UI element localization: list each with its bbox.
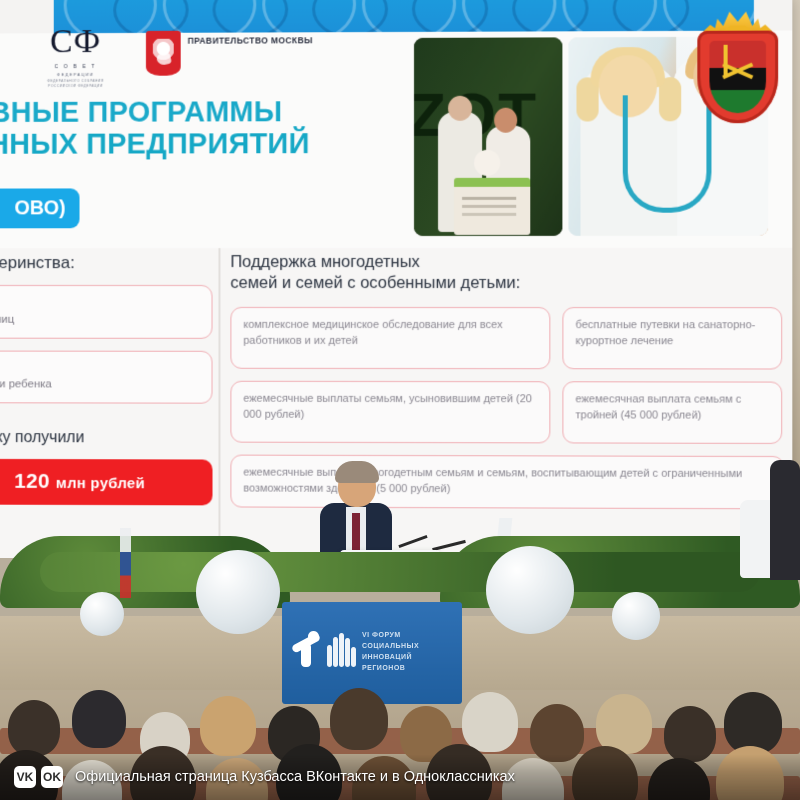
sf-sub1: С О В Е Т: [36, 64, 115, 70]
kuzbass-coat-of-arms-icon: [689, 8, 786, 127]
russian-flag-left: [120, 528, 131, 598]
decor-ball-left: [196, 550, 280, 634]
large-family-title-line-1: Поддержка многодетных: [230, 252, 784, 274]
stethoscope-icon: [623, 121, 712, 213]
support-card-triplets-payment: ежемесячная выплата семьям с тройней (45…: [562, 381, 782, 444]
slide-headline: ИВНЫЕ ПРОГРАММЫ ЕННЫХ ПРЕДПРИЯТИЙ: [0, 96, 396, 162]
decor-ball-right: [486, 546, 574, 634]
support-card-medical-exam: комплексное медицинское обследование для…: [230, 307, 550, 369]
council-of-federation-logo: СФ С О В Е Т ФЕДЕРАЦИИ ФЕДЕРАЛЬНОГО СОБР…: [36, 25, 115, 89]
large-family-title-line-2: семей и семей с особенными детьми:: [230, 273, 784, 295]
maternity-card-2: ыплата ождении ребенка: [0, 350, 213, 403]
decor-ball-small-left: [80, 592, 124, 636]
headline-line-2: ЕННЫХ ПРЕДПРИЯТИЙ: [0, 128, 396, 161]
hedge-top: [40, 552, 760, 592]
forum-hand-icon: [326, 633, 356, 673]
sf-monogram: СФ: [36, 25, 115, 59]
moscow-government-logo: ПРАВИТЕЛЬСТВО МОСКВЫ: [146, 30, 313, 75]
forum-line-2: СОЦИАЛЬНЫХ: [362, 642, 419, 653]
maternity-section-title: ки материнства:: [0, 252, 218, 273]
screenshot-root: СФ С О В Е Т ФЕДЕРАЦИИ ФЕДЕРАЛЬНОГО СОБР…: [0, 0, 800, 800]
location-badge: ОВО): [0, 188, 80, 228]
moscow-government-label: ПРАВИТЕЛЬСТВО МОСКВЫ: [188, 30, 313, 47]
forum-banner-text: VI ФОРУМ СОЦИАЛЬНЫХ ИННОВАЦИЙ РЕГИОНОВ: [362, 631, 419, 674]
decor-ball-small-right: [612, 592, 660, 640]
sf-sub3: ФЕДЕРАЛЬНОГО СОБРАНИЯ РОССИЙСКОЙ ФЕДЕРАЦ…: [36, 79, 115, 89]
vk-icon[interactable]: VK: [14, 766, 36, 788]
support-card-adoption-payment: ежемесячные выплаты семьям, усыновившим …: [230, 381, 550, 444]
sf-sub2: ФЕДЕРАЦИИ: [36, 72, 115, 77]
forum-line-3: ИННОВАЦИЙ: [362, 653, 419, 664]
forum-star-figure-icon: [292, 633, 320, 673]
headline-line-1: ИВНЫЕ ПРОГРАММЫ: [0, 96, 396, 129]
maternity-card-1: отпуск сотрудниц: [0, 285, 213, 338]
ok-icon[interactable]: OK: [41, 766, 63, 788]
caption-text: Официальная страница Кузбасса ВКонтакте …: [75, 769, 515, 785]
microphone-icon: [398, 535, 427, 548]
forum-line-1: VI ФОРУМ: [362, 631, 419, 642]
caption-bar: VK OK Официальная страница Кузбасса ВКон…: [0, 754, 800, 800]
family-with-certificate-photo: ZOT: [414, 37, 562, 236]
support-card-sanatorium: бесплатные путевки на санаторно-курортно…: [562, 307, 782, 369]
moscow-coat-of-arms-icon: [146, 31, 181, 76]
stage-foreground: VI ФОРУМ СОЦИАЛЬНЫХ ИННОВАЦИЙ РЕГИОНОВ: [0, 440, 800, 800]
person-standing-right: [770, 460, 800, 580]
